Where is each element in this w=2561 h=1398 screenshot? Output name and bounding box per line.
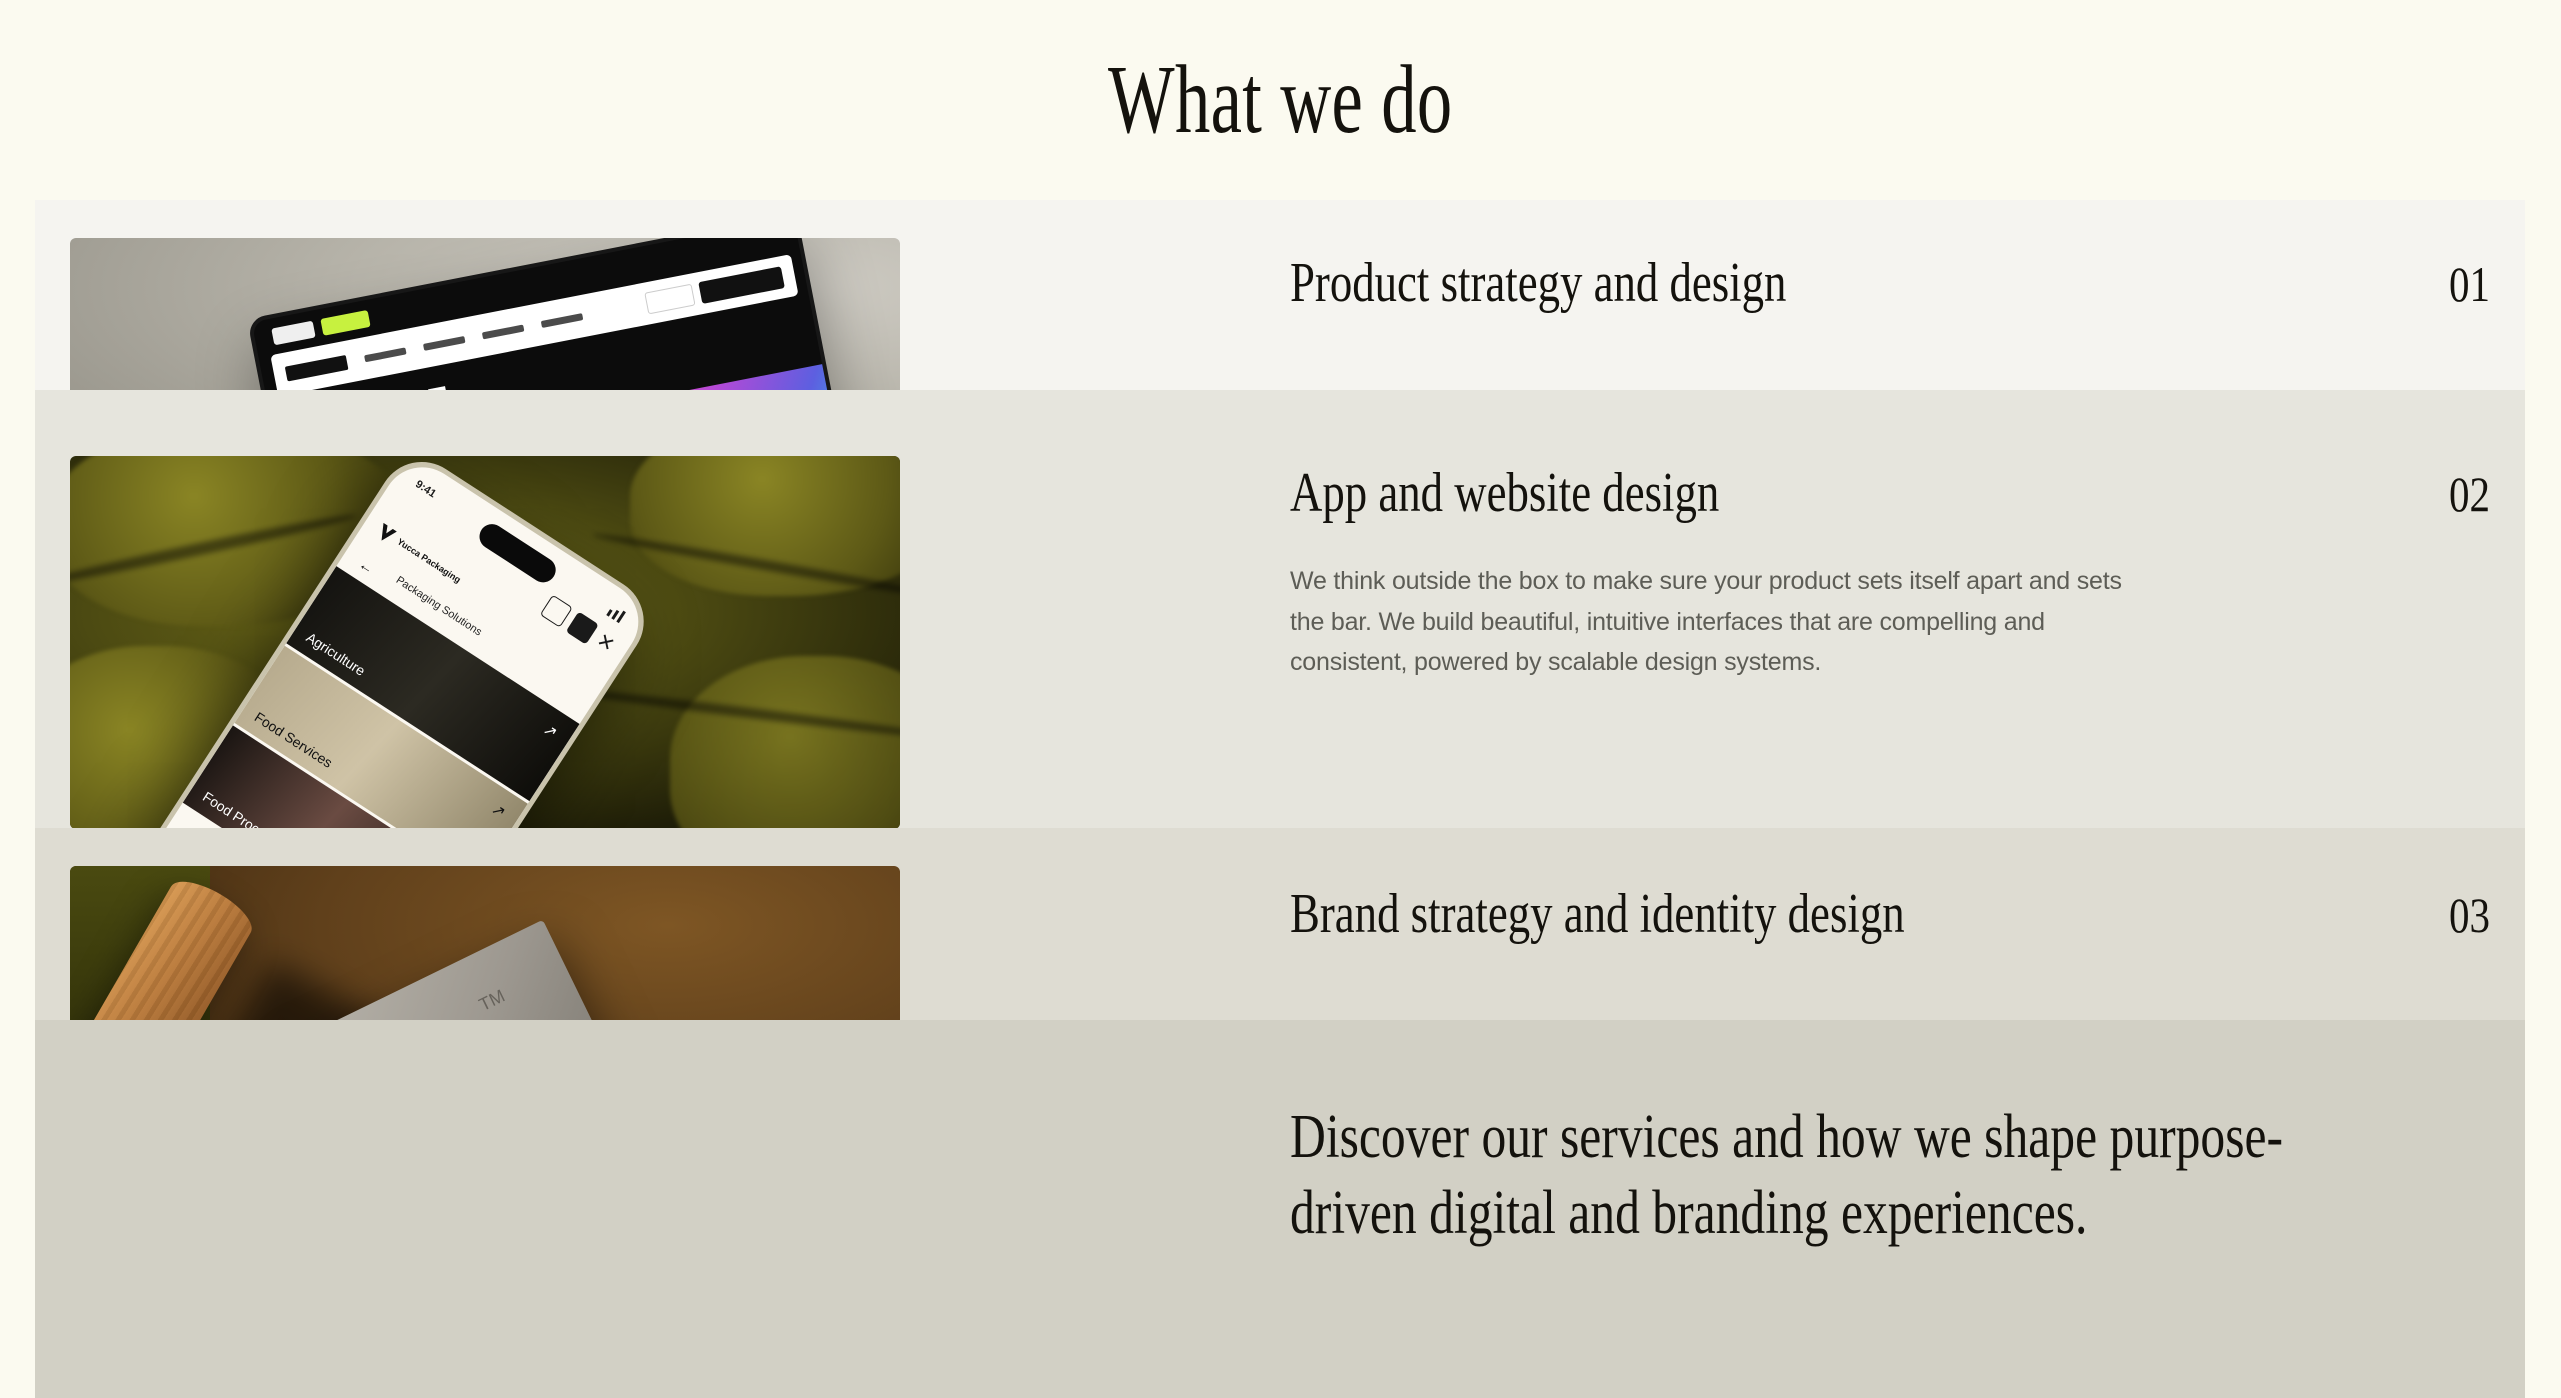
close-icon: ✕ [593, 630, 618, 656]
row-text-product-strategy: Product strategy and design 01 [1290, 255, 2490, 311]
row-text-app-website-design: App and website design 02 We think outsi… [1290, 465, 2490, 683]
row-description: We think outside the box to make sure yo… [1290, 561, 2130, 683]
row-thumbnail-app-website-design: 9:41 ✕ Yucca Packaging [70, 456, 900, 828]
accordion-row-product-strategy[interactable]: INCREASE REVENUE WITH OUR RETAIL SOLUTIO… [35, 200, 2525, 390]
accordion-row-brand-strategy[interactable]: FO TM gencies Brand strategy and identit… [35, 828, 2525, 1020]
laptop-mockup-image: INCREASE REVENUE WITH OUR RETAIL SOLUTIO… [70, 238, 900, 390]
row-title: Product strategy and design [1290, 255, 2210, 311]
phone-app-brand: Yucca Packaging [375, 523, 464, 588]
page-header: What we do [0, 0, 2561, 200]
laptop-nav-item [482, 324, 525, 339]
closing-statement-panel: Discover our services and how we shape p… [35, 1020, 2525, 1398]
arrow-icon: ↗ [539, 719, 561, 743]
arrow-icon: ↗ [487, 799, 509, 823]
page-title: What we do [1108, 51, 1453, 149]
cart-icon [540, 595, 573, 628]
row-number: 02 [2449, 469, 2490, 519]
chair-cushion [630, 456, 900, 596]
laptop-site-logo [285, 354, 349, 381]
trademark-symbol: TM [476, 986, 509, 1016]
row-text-brand-strategy: Brand strategy and identity design 03 [1290, 886, 2490, 942]
row-header: App and website design 02 [1290, 465, 2490, 521]
laptop-nav-item [364, 347, 407, 362]
laptop-nav-item [541, 313, 584, 328]
chip-light [271, 321, 315, 346]
phone-category-label: Food Processing [183, 781, 297, 828]
phone-status-time: 9:41 [413, 478, 438, 500]
laptop-nav-item [423, 335, 466, 350]
row-number: 01 [2449, 259, 2490, 309]
laptop-nav-actions [644, 266, 785, 314]
laptop-login-button [644, 284, 695, 315]
row-header: Product strategy and design 01 [1290, 255, 2490, 311]
laptop-cta-button [698, 266, 785, 304]
row-title: Brand strategy and identity design [1290, 886, 2210, 942]
row-thumbnail-brand-strategy: FO TM gencies [70, 866, 900, 1020]
services-accordion: INCREASE REVENUE WITH OUR RETAIL SOLUTIO… [35, 200, 2525, 1398]
menu-icon [566, 612, 599, 645]
row-header: Brand strategy and identity design 03 [1290, 886, 2490, 942]
brand-card-image: FO TM gencies [70, 866, 900, 1020]
laptop-gradient-panel [624, 355, 873, 390]
yucca-logo-icon [375, 523, 397, 545]
row-thumbnail-product-strategy: INCREASE REVENUE WITH OUR RETAIL SOLUTIO… [70, 238, 900, 390]
back-arrow-icon: ← [355, 556, 377, 578]
phone-status-bar: 9:41 [391, 460, 648, 640]
signal-icon [607, 604, 627, 623]
chip-green [320, 310, 370, 336]
row-title: App and website design [1290, 465, 2210, 521]
phone-mockup-image: 9:41 ✕ Yucca Packaging [70, 456, 900, 828]
laptop-device: INCREASE REVENUE WITH OUR RETAIL SOLUTIO… [247, 238, 873, 390]
row-number: 03 [2449, 890, 2490, 940]
closing-statement-text: Discover our services and how we shape p… [1290, 1100, 2394, 1251]
accordion-row-app-website-design[interactable]: 9:41 ✕ Yucca Packaging [35, 390, 2525, 828]
chair-cushion [670, 656, 900, 828]
